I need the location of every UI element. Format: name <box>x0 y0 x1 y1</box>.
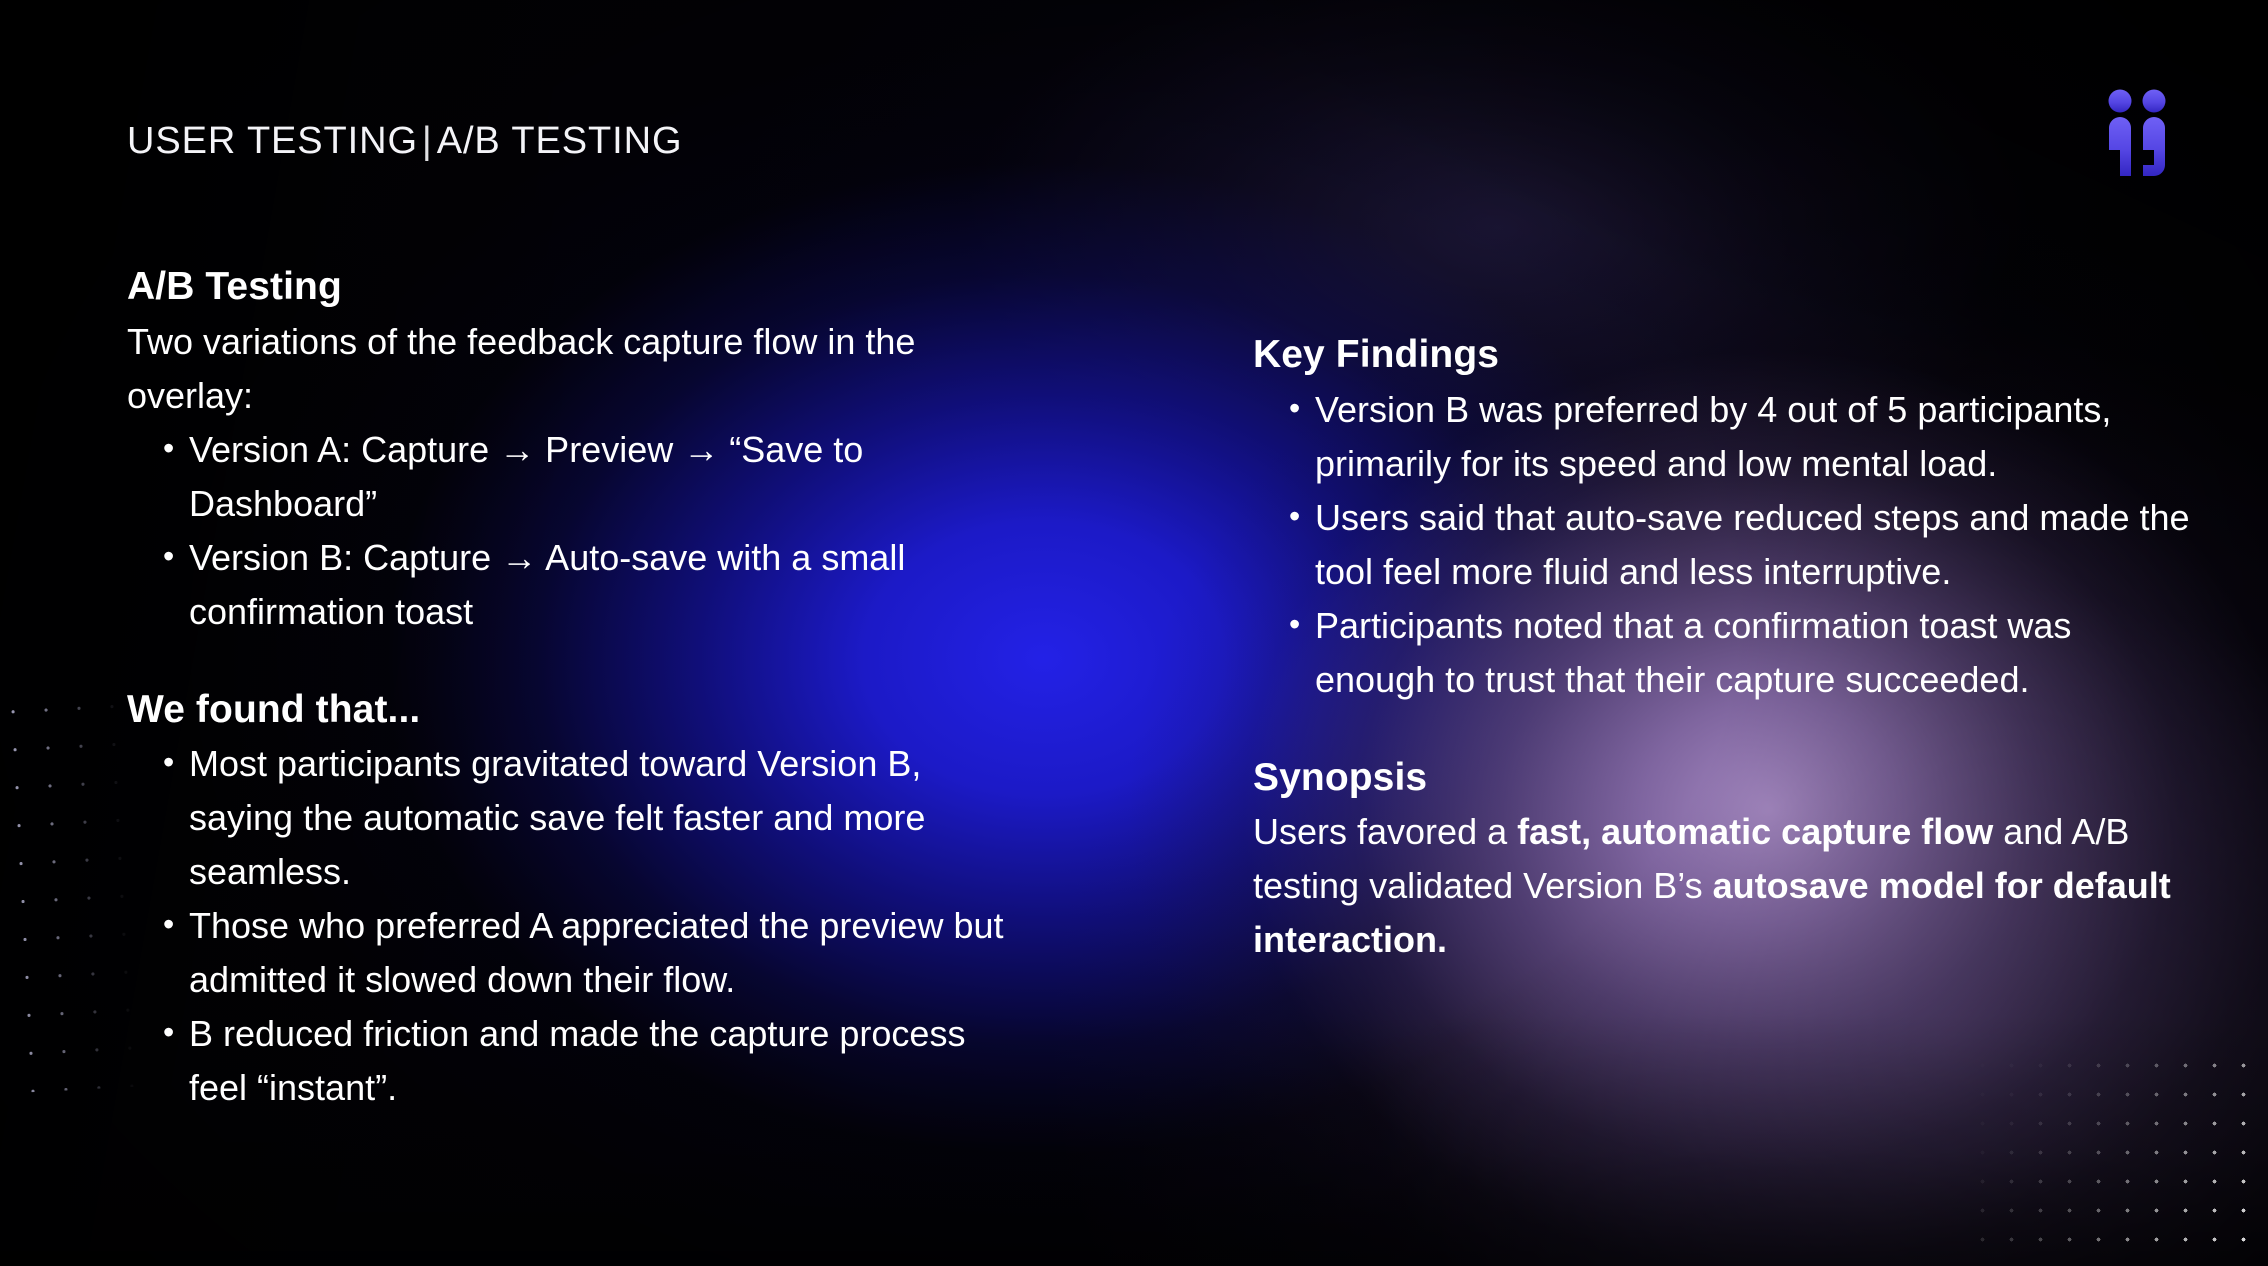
key-findings-list: Version B was preferred by 4 out of 5 pa… <box>1253 383 2193 707</box>
findings-list: Most participants gravitated toward Vers… <box>127 737 1032 1115</box>
ab-testing-title: A/B Testing <box>127 262 1032 313</box>
list-item: Those who preferred A appreciated the pr… <box>189 899 1032 1007</box>
list-item: Participants noted that a confirmation t… <box>1315 599 2193 707</box>
list-item: Version B was preferred by 4 out of 5 pa… <box>1315 383 2193 491</box>
list-item: B reduced friction and made the capture … <box>189 1007 1032 1115</box>
we-found-that-title: We found that... <box>127 685 1032 736</box>
list-item: Users said that auto-save reduced steps … <box>1315 491 2193 599</box>
list-item: Most participants gravitated toward Vers… <box>189 737 1032 899</box>
right-column-spacer <box>1253 707 2193 753</box>
right-column: Key Findings Version B was preferred by … <box>1253 330 2193 967</box>
key-findings-title: Key Findings <box>1253 330 2193 381</box>
dot-grid-bottom-right-icon <box>1968 1051 2268 1266</box>
synopsis-text: Users favored a fast, automatic capture … <box>1253 805 2193 967</box>
ab-testing-intro: Two variations of the feedback capture f… <box>127 315 1032 423</box>
header-right-label: A/B TESTING <box>437 120 683 162</box>
variations-list: Version A: Capture → Preview → “Save to … <box>127 423 1032 639</box>
left-column-spacer <box>127 639 1032 685</box>
synopsis-bold-1: fast, automatic capture flow <box>1517 811 1993 852</box>
list-item: Version A: Capture → Preview → “Save to … <box>189 423 1032 531</box>
header-left-label: USER TESTING <box>127 120 418 162</box>
header-separator: | <box>418 120 437 162</box>
slide-header: USER TESTING|A/B TESTING <box>127 120 682 163</box>
synopsis-part-1: Users favored a <box>1253 811 1517 852</box>
two-figures-logo-icon <box>2098 88 2176 176</box>
dot-grid-left-icon <box>0 687 146 1093</box>
synopsis-title: Synopsis <box>1253 753 2193 804</box>
slide-root: USER TESTING|A/B TESTING A/B Testing Two… <box>0 0 2268 1266</box>
list-item: Version B: Capture → Auto-save with a sm… <box>189 531 1032 639</box>
left-column: A/B Testing Two variations of the feedba… <box>127 262 1032 1115</box>
